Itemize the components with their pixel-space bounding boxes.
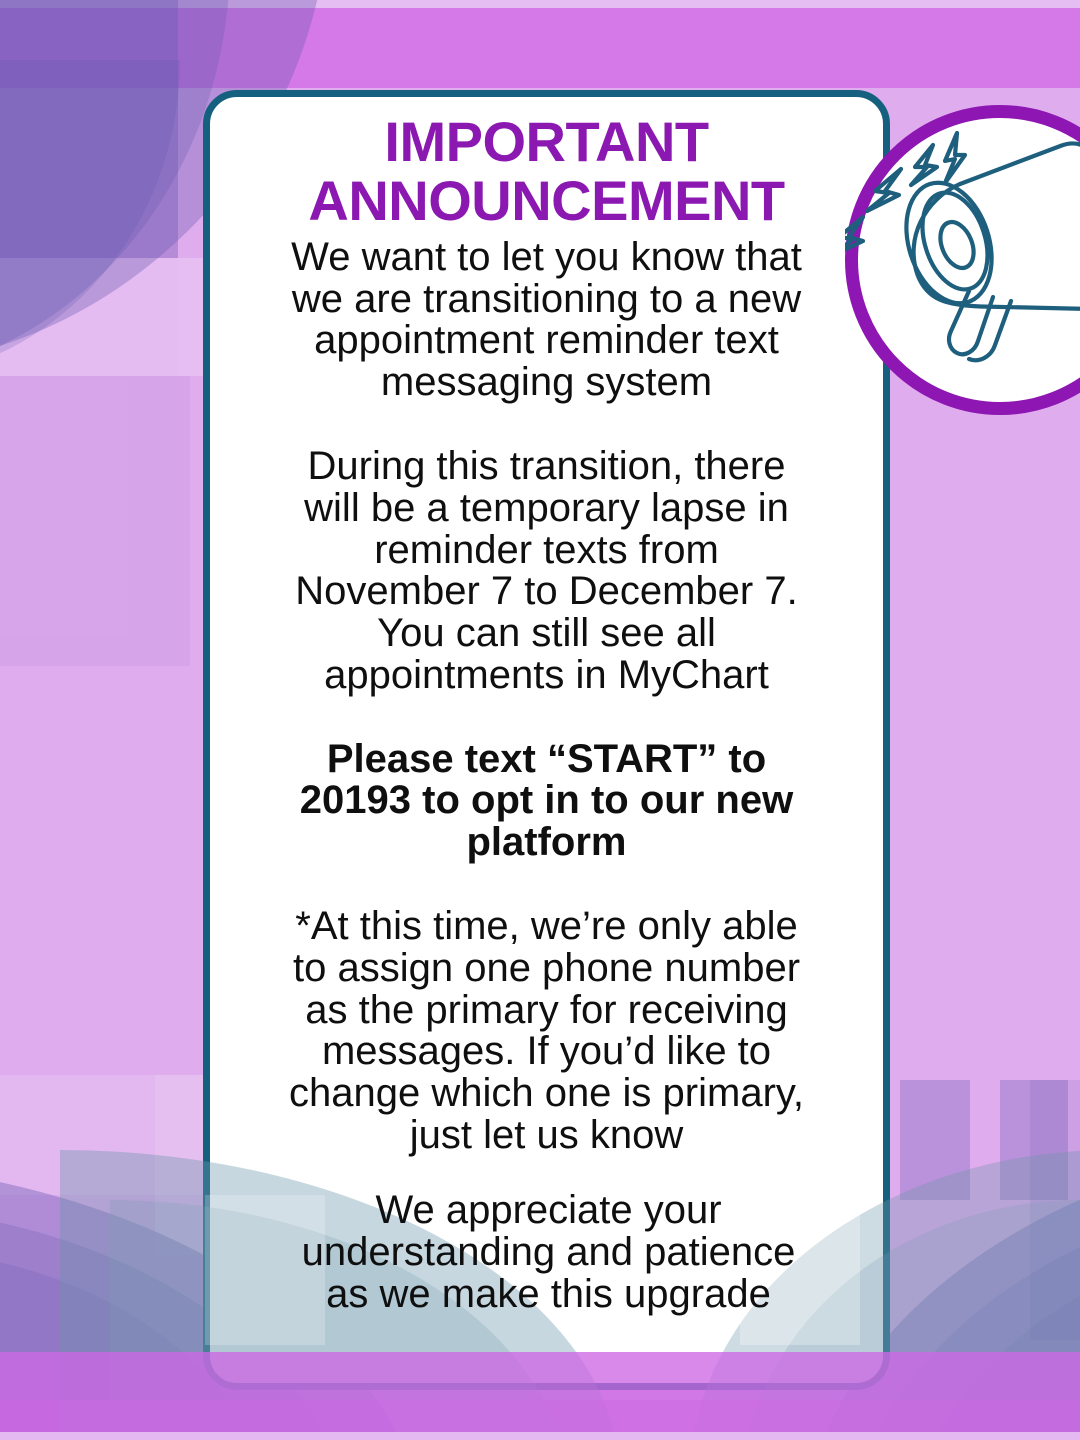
megaphone-icon xyxy=(845,105,1080,415)
announcement-poster: IMPORTANT ANNOUNCEMENT We want to let yo… xyxy=(0,0,1080,1440)
page-title: IMPORTANT ANNOUNCEMENT xyxy=(217,112,876,231)
paragraph-transition-notice: We want to let you know that we are tran… xyxy=(217,237,876,404)
page-title-line-1: IMPORTANT xyxy=(235,112,858,171)
bg-rect-bottom-right-1 xyxy=(900,1080,970,1200)
bottom-thin-band xyxy=(0,1432,1080,1440)
bg-rect-top-left-2 xyxy=(0,258,178,376)
bg-leaf-top-left-inner xyxy=(0,0,230,380)
bg-rect-bottom-right-3 xyxy=(1030,1080,1080,1340)
paragraph-lapse-window: During this transition, there will be a … xyxy=(217,446,876,697)
bg-leaf-bottom-right-3 xyxy=(900,1235,1080,1440)
bg-rect-top-left-4 xyxy=(0,376,190,666)
paragraph-opt-in-call-to-action: Please text “START” to 20193 to opt in t… xyxy=(217,739,876,864)
paragraph-closing-thanks: We appreciate your understanding and pat… xyxy=(203,1190,894,1315)
bg-leaf-top-left-core xyxy=(0,60,180,380)
top-accent-band xyxy=(0,8,1080,88)
bg-rect-top-left-1 xyxy=(0,0,178,258)
bottom-accent-band-lower xyxy=(0,1400,1080,1432)
paragraph-primary-number-disclaimer: *At this time, we’re only able to assign… xyxy=(217,906,876,1157)
page-title-line-2: ANNOUNCEMENT xyxy=(235,171,858,230)
bg-rect-bottom-right-2 xyxy=(1000,1080,1068,1200)
top-thin-band xyxy=(0,0,1080,8)
